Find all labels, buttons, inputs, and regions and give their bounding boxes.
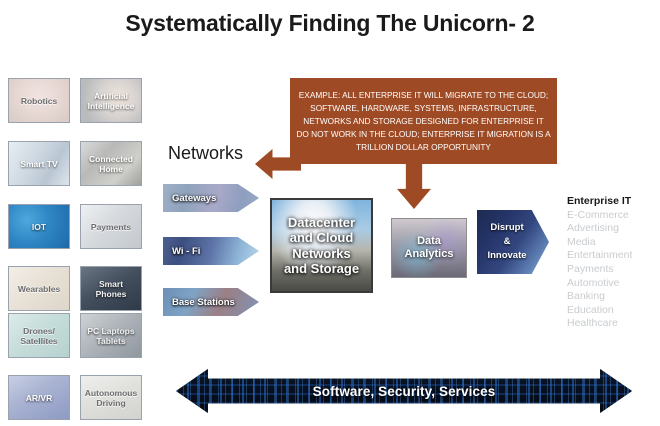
chevron-base-stations[interactable]: Base Stations	[163, 288, 259, 316]
enterprise-list-item-automotive: Automotive	[567, 277, 659, 291]
tile-drones-satellites[interactable]: Drones/ Satellites	[8, 313, 70, 358]
data-analytics-box[interactable]: DataAnalytics	[391, 218, 467, 278]
tile-autonomous-driving-label: Autonomous Driving	[81, 388, 141, 408]
example-callout-box: EXAMPLE: ALL ENTERPRISE IT WILL MIGRATE …	[290, 78, 557, 164]
tile-robotics[interactable]: Robotics	[8, 78, 70, 123]
software-security-services-bar: Software, Security, Services	[176, 369, 632, 413]
tile-ar-vr[interactable]: AR/VR	[8, 375, 70, 420]
enterprise-list-item-education: Education	[567, 304, 659, 318]
chevron-disrupt-innovate-label: Disrupt&Innovate	[487, 221, 538, 263]
enterprise-vertical-list: Enterprise ITE-CommerceAdvertisingMediaE…	[567, 195, 659, 331]
software-security-services-label: Software, Security, Services	[313, 384, 496, 399]
tile-drones-satellites-label: Drones/ Satellites	[9, 326, 69, 346]
callout-arrow-down-icon	[397, 161, 431, 209]
chevron-gateways[interactable]: Gateways	[163, 184, 259, 212]
tile-smart-tv-label: Smart TV	[18, 159, 59, 169]
tile-smart-tv[interactable]: Smart TV	[8, 141, 70, 186]
tile-wearables[interactable]: Wearables	[8, 266, 70, 311]
tile-payments-label: Payments	[89, 222, 133, 232]
tile-autonomous-driving[interactable]: Autonomous Driving	[80, 375, 142, 420]
tile-smart-phones-label: Smart Phones	[81, 279, 141, 299]
chevron-wifi[interactable]: Wi - Fi	[163, 237, 259, 265]
tile-ar-vr-label: AR/VR	[24, 393, 54, 403]
page-title: Systematically Finding The Unicorn- 2	[0, 10, 660, 37]
enterprise-list-item-payments: Payments	[567, 263, 659, 277]
enterprise-list-item-advertising: Advertising	[567, 222, 659, 236]
tile-payments[interactable]: Payments	[80, 204, 142, 249]
tile-wearables-label: Wearables	[16, 284, 62, 294]
enterprise-list-item-enterprise-it: Enterprise IT	[567, 195, 659, 209]
tile-connected-home-label: Connected Home	[81, 154, 141, 174]
data-analytics-label: DataAnalytics	[405, 235, 454, 261]
datacenter-box-label: Datacenterand CloudNetworksand Storage	[284, 215, 359, 277]
tile-artificial-intelligence-label: Artificial Intelligence	[81, 91, 141, 111]
example-callout-text: EXAMPLE: ALL ENTERPRISE IT WILL MIGRATE …	[296, 89, 550, 154]
datacenter-cloud-box[interactable]: Datacenterand CloudNetworksand Storage	[270, 198, 373, 293]
tile-artificial-intelligence[interactable]: Artificial Intelligence	[80, 78, 142, 123]
tile-smart-phones[interactable]: Smart Phones	[80, 266, 142, 311]
tile-connected-home[interactable]: Connected Home	[80, 141, 142, 186]
tile-pc-laptops-tablets-label: PC Laptops Tablets	[81, 326, 141, 346]
chevron-base-stations-label: Base Stations	[163, 297, 235, 308]
tile-iot-label: IOT	[30, 222, 48, 232]
networks-heading: Networks	[168, 143, 243, 164]
chevron-wifi-label: Wi - Fi	[163, 246, 200, 257]
enterprise-list-item-healthcare: Healthcare	[567, 317, 659, 331]
enterprise-list-item-entertainment: Entertainment	[567, 249, 659, 263]
chevron-disrupt-innovate[interactable]: Disrupt&Innovate	[477, 210, 549, 274]
enterprise-list-item-banking: Banking	[567, 290, 659, 304]
slide-canvas: Systematically Finding The Unicorn- 2 Ro…	[0, 0, 660, 426]
enterprise-list-item-media: Media	[567, 236, 659, 250]
tile-robotics-label: Robotics	[19, 96, 59, 106]
tile-iot[interactable]: IOT	[8, 204, 70, 249]
tile-pc-laptops-tablets[interactable]: PC Laptops Tablets	[80, 313, 142, 358]
chevron-gateways-label: Gateways	[163, 193, 216, 204]
enterprise-list-item-e-commerce: E-Commerce	[567, 209, 659, 223]
